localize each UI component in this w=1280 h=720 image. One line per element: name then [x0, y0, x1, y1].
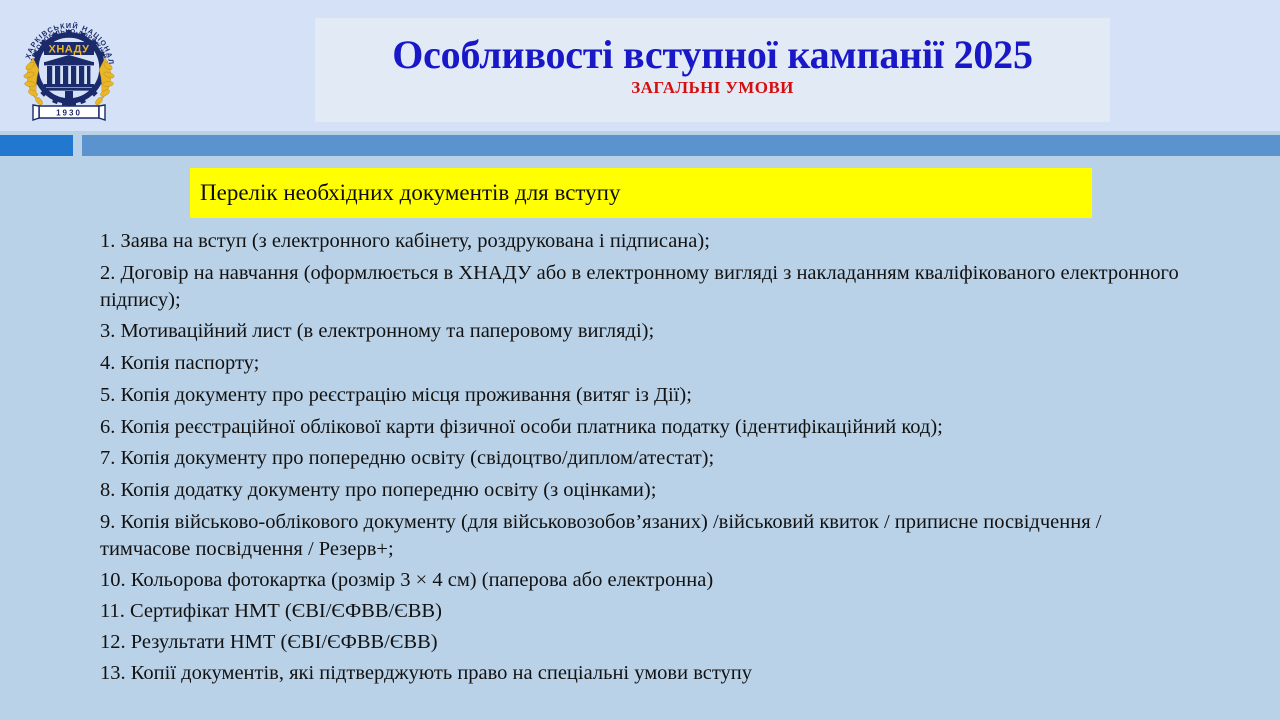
- list-item: 12. Результати НМТ (ЄВІ/ЄФВВ/ЄВВ): [100, 629, 1190, 656]
- svg-text:ХНАДУ: ХНАДУ: [49, 44, 90, 56]
- list-item: 10. Кольорова фотокартка (розмір 3 × 4 с…: [100, 567, 1190, 594]
- slide-title-box: Особливості вступної кампанії 2025 ЗАГАЛ…: [315, 18, 1110, 122]
- list-item: 1. Заява на вступ (з електронного кабіне…: [100, 228, 1190, 255]
- presentation-slide: ХАРКІВСЬКИЙ НАЦІОНАЛЬНИЙ АВТОМОБІЛЬНО-ДО…: [0, 0, 1280, 720]
- slide-body: Перелік необхідних документів для вступу…: [0, 161, 1280, 720]
- list-item: 8. Копія додатку документу про попередню…: [100, 477, 1190, 504]
- svg-text:1930: 1930: [56, 109, 82, 118]
- divider-accent-block: [0, 135, 73, 156]
- divider-bar: [82, 135, 1280, 156]
- slide-header: ХАРКІВСЬКИЙ НАЦІОНАЛЬНИЙ АВТОМОБІЛЬНО-ДО…: [0, 0, 1280, 131]
- list-item: 7. Копія документу про попередню освіту …: [100, 445, 1190, 472]
- hnadu-university-emblem-logo: ХАРКІВСЬКИЙ НАЦІОНАЛЬНИЙ АВТОМОБІЛЬНО-ДО…: [13, 6, 125, 126]
- section-banner: Перелік необхідних документів для вступу: [190, 168, 1092, 218]
- list-item: 13. Копії документів, які підтверджують …: [100, 660, 1190, 687]
- page-subtitle: ЗАГАЛЬНІ УМОВИ: [631, 78, 793, 98]
- list-item: 11. Сертифікат НМТ (ЄВІ/ЄФВВ/ЄВВ): [100, 598, 1190, 625]
- list-item: 3. Мотиваційний лист (в електронному та …: [100, 318, 1190, 345]
- header-divider: [0, 131, 1280, 161]
- list-item: 5. Копія документу про реєстрацію місця …: [100, 382, 1190, 409]
- section-banner-label: Перелік необхідних документів для вступу: [200, 180, 621, 205]
- list-item: 6. Копія реєстраційної облікової карти ф…: [100, 414, 1190, 441]
- required-documents-list: 1. Заява на вступ (з електронного кабіне…: [100, 228, 1190, 690]
- list-item: 2. Договір на навчання (оформлюється в Х…: [100, 260, 1190, 314]
- list-item: 4. Копія паспорту;: [100, 350, 1190, 377]
- page-title: Особливості вступної кампанії 2025: [392, 34, 1033, 76]
- list-item: 9. Копія військово-облікового документу …: [100, 509, 1190, 563]
